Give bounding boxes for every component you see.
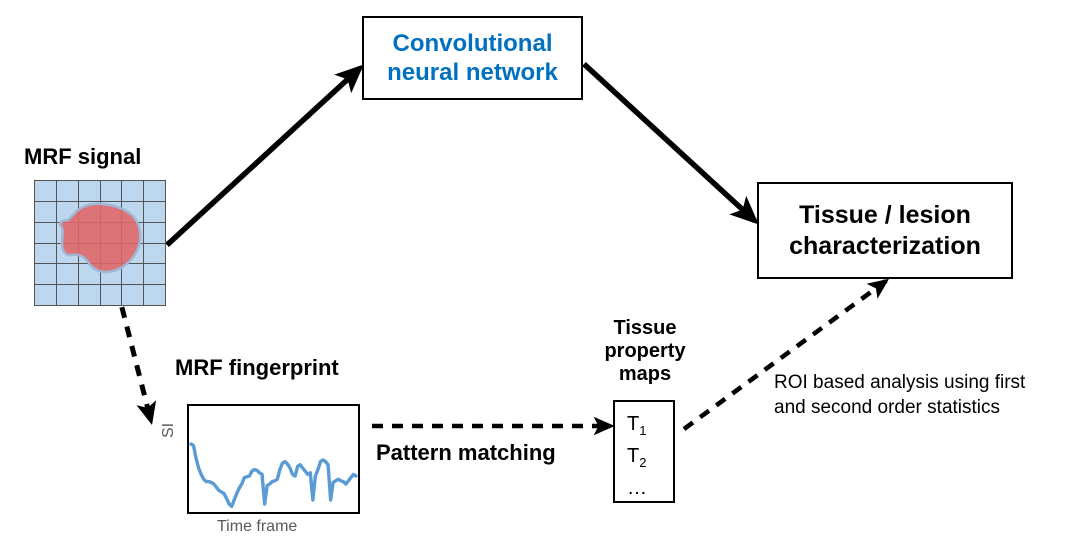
voxel-cell [101,244,122,264]
voxel-cell [144,285,165,305]
voxel-cell [144,264,165,284]
map-item-t2: T2 [615,441,673,473]
pattern-matching-label: Pattern matching [376,440,556,466]
voxel-cell [122,264,143,284]
tissue-characterization-node[interactable]: Tissue / lesion characterization [757,182,1013,279]
map-item-base: T [627,445,639,467]
voxel-cell [144,202,165,222]
voxel-cell [122,223,143,243]
voxel-cell [79,223,100,243]
voxel-cell [57,223,78,243]
mrf-signal-image [34,180,166,306]
map-item-ellipsis: … [615,473,673,504]
voxel-cell [57,264,78,284]
tissue-property-maps-title: Tissue property maps [600,317,690,386]
voxel-cell [101,223,122,243]
voxel-cell [57,181,78,201]
chart-x-axis-label: Time frame [217,518,297,536]
map-item-base: … [627,477,647,499]
tissue-property-maps-node[interactable]: T1 T2 … [613,400,675,503]
voxel-cell [35,285,56,305]
voxel-cell [101,285,122,305]
voxel-cell [101,264,122,284]
voxel-cell [101,202,122,222]
voxel-cell [57,202,78,222]
roi-analysis-label: ROI based analysis using first and secon… [774,371,1025,420]
voxel-grid [34,180,166,306]
mrf-fingerprint-chart [187,404,360,514]
voxel-cell [122,181,143,201]
cnn-node[interactable]: Convolutional neural network [362,16,583,100]
voxel-cell [144,223,165,243]
voxel-cell [79,202,100,222]
voxel-cell [57,244,78,264]
edge-cnn-to-tissue [584,64,755,221]
voxel-cell [57,285,78,305]
voxel-cell [144,181,165,201]
voxel-cell [144,244,165,264]
voxel-cell [79,264,100,284]
voxel-cell [35,202,56,222]
voxel-cell [122,202,143,222]
map-item-sub: 1 [639,423,646,438]
voxel-cell [79,285,100,305]
voxel-cell [35,264,56,284]
mrf-signal-label: MRF signal [24,144,141,170]
voxel-cell [122,244,143,264]
diagram-canvas: MRF signal [0,0,1073,551]
edge-signal-to-cnn [167,68,360,245]
voxel-cell [79,181,100,201]
voxel-cell [101,181,122,201]
voxel-cell [122,285,143,305]
voxel-cell [35,223,56,243]
cnn-node-label: Convolutional neural network [387,29,558,88]
mrf-fingerprint-label: MRF fingerprint [175,355,339,381]
map-item-t1: T1 [615,409,673,441]
map-item-sub: 2 [639,455,646,470]
voxel-cell [35,244,56,264]
fingerprint-signal-curve [189,406,358,512]
tissue-characterization-label: Tissue / lesion characterization [789,200,981,261]
chart-y-axis-label: SI [160,423,178,438]
voxel-cell [35,181,56,201]
map-item-base: T [627,413,639,435]
voxel-cell [79,244,100,264]
